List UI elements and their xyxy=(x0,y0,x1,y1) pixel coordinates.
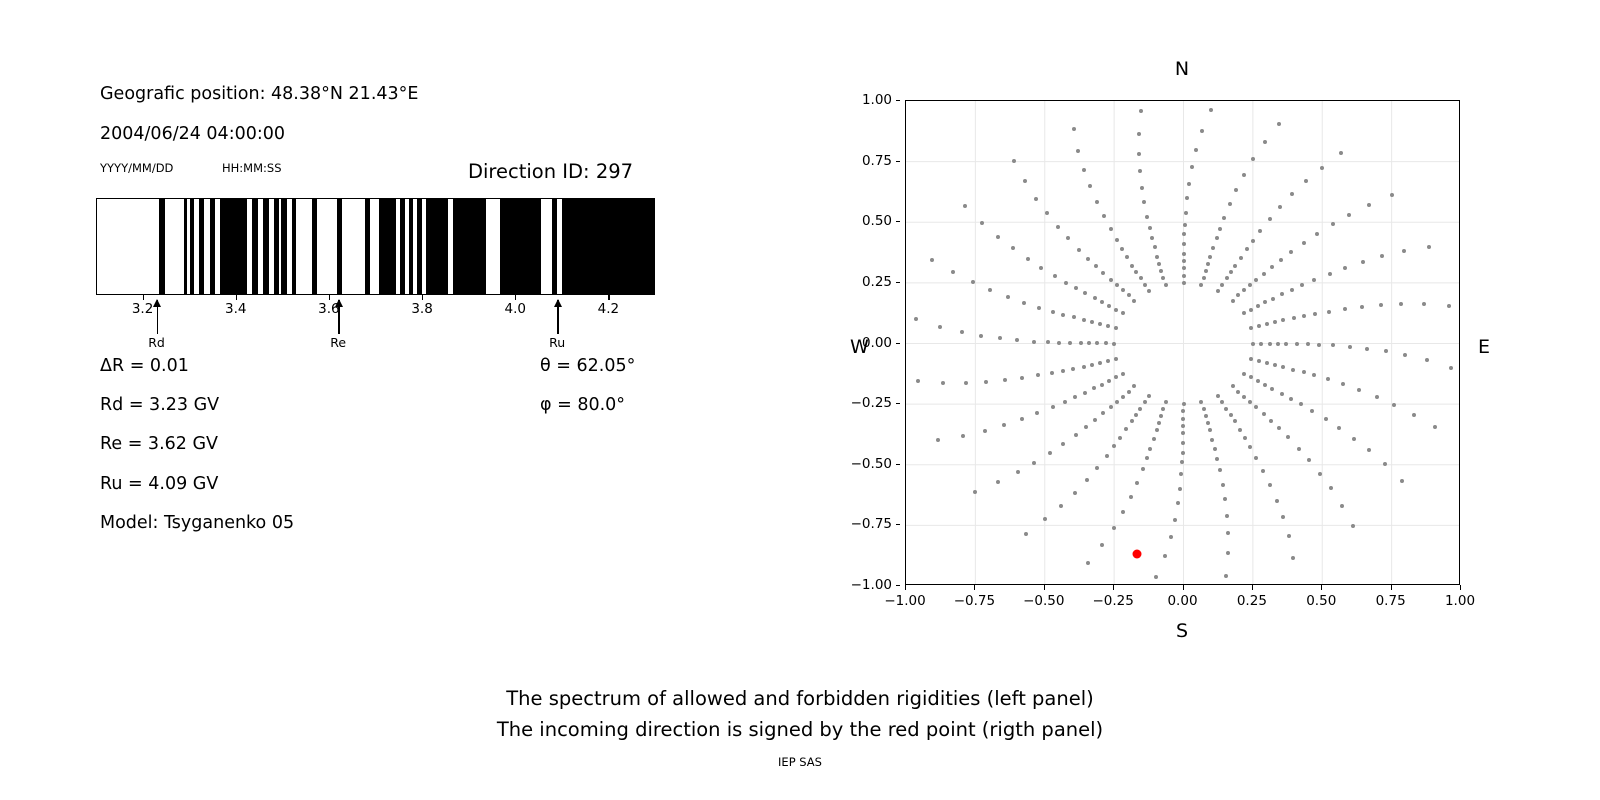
direction-dot xyxy=(1290,288,1294,292)
direction-dot xyxy=(1121,395,1125,399)
direction-dot xyxy=(1307,458,1311,462)
direction-dot xyxy=(1379,303,1383,307)
direction-dot xyxy=(1016,470,1020,474)
direction-dot xyxy=(1275,499,1279,503)
direction-dot xyxy=(1225,514,1229,518)
arrow-up-icon xyxy=(153,299,161,307)
direction-dot xyxy=(1181,451,1185,455)
direction-dot xyxy=(1190,165,1194,169)
direction-dot xyxy=(1327,310,1331,314)
direction-dot xyxy=(998,336,1002,340)
direction-dot xyxy=(1153,245,1157,249)
direction-dot xyxy=(1233,419,1237,423)
angle-row-1: φ = 80.0° xyxy=(540,395,625,415)
direction-dot xyxy=(1242,288,1246,292)
direction-dot xyxy=(1138,169,1142,173)
direction-dot xyxy=(1147,394,1151,398)
direction-dot xyxy=(1261,469,1265,473)
direction-dot xyxy=(1225,276,1229,280)
direction-dot xyxy=(1254,405,1258,409)
direction-dot xyxy=(1199,283,1203,287)
direction-dot xyxy=(984,380,988,384)
direction-dot xyxy=(1383,462,1387,466)
direction-dot xyxy=(1182,266,1186,270)
direction-dot xyxy=(1273,320,1277,324)
direction-dot xyxy=(1082,365,1086,369)
direction-dot xyxy=(1233,264,1237,268)
direction-dot xyxy=(1226,531,1230,535)
direction-dot xyxy=(1115,238,1119,242)
direction-dot xyxy=(1101,411,1105,415)
polar-y-tick-label: −1.00 xyxy=(851,577,892,593)
direction-dot xyxy=(1182,402,1186,406)
caption-line-1: The spectrum of allowed and forbidden ri… xyxy=(0,687,1600,710)
direction-dot xyxy=(1341,382,1345,386)
direction-dot xyxy=(983,429,987,433)
direction-dot xyxy=(1258,229,1262,233)
direction-dot xyxy=(1270,387,1274,391)
direction-dot xyxy=(1317,343,1321,347)
direction-dot xyxy=(1365,347,1369,351)
direction-dot xyxy=(1400,479,1404,483)
direction-dot xyxy=(1224,407,1228,411)
direction-dot xyxy=(1339,151,1343,155)
direction-dot xyxy=(1118,436,1122,440)
polar-y-tick xyxy=(896,343,901,344)
direction-dot xyxy=(1148,226,1152,230)
direction-dot xyxy=(1425,358,1429,362)
direction-dot xyxy=(1039,266,1043,270)
direction-dot xyxy=(1287,534,1291,538)
direction-dot xyxy=(1181,417,1185,421)
direction-dot xyxy=(1331,343,1335,347)
direction-dot xyxy=(1343,266,1347,270)
cutoff-marker-label: Re xyxy=(330,335,346,350)
footer-credit: IEP SAS xyxy=(0,755,1600,769)
direction-dot xyxy=(1026,257,1030,261)
direction-dot xyxy=(1178,487,1182,491)
direction-dot xyxy=(1032,461,1036,465)
plot-gridlines xyxy=(906,101,1460,585)
direction-dot xyxy=(1037,306,1041,310)
direction-dot xyxy=(1072,315,1076,319)
direction-dot xyxy=(1276,342,1280,346)
direction-dot xyxy=(1367,448,1371,452)
direction-dot xyxy=(1083,291,1087,295)
direction-dot xyxy=(980,221,984,225)
direction-dot xyxy=(1337,426,1341,430)
direction-dot xyxy=(1155,428,1159,432)
angle-row-0: θ = 62.05° xyxy=(540,356,635,376)
direction-dot xyxy=(1020,376,1024,380)
direction-dot xyxy=(1061,313,1065,317)
direction-dot xyxy=(1331,222,1335,226)
polar-x-tick xyxy=(974,585,975,590)
polar-y-tick xyxy=(896,585,901,586)
direction-dot xyxy=(1297,447,1301,451)
direction-dot xyxy=(1057,341,1061,345)
direction-dot xyxy=(1313,312,1317,316)
direction-dot xyxy=(1145,215,1149,219)
polar-x-tick-label: 0.00 xyxy=(1167,593,1197,609)
direction-dot xyxy=(1306,342,1310,346)
direction-dot xyxy=(1059,504,1063,508)
direction-dot xyxy=(1211,246,1215,250)
direction-dot xyxy=(1392,403,1396,407)
direction-dot xyxy=(1204,269,1208,273)
direction-dot xyxy=(973,490,977,494)
direction-dot xyxy=(1142,200,1146,204)
direction-dot xyxy=(1159,269,1163,273)
direction-dot xyxy=(1216,394,1220,398)
direction-dot xyxy=(1239,256,1243,260)
direction-dot xyxy=(1256,304,1260,308)
direction-dot xyxy=(1127,293,1131,297)
direction-dot xyxy=(1375,395,1379,399)
direction-dot xyxy=(1273,363,1277,367)
direction-dot xyxy=(1093,418,1097,422)
direction-dot xyxy=(1220,400,1224,404)
direction-dot xyxy=(1194,148,1198,152)
direction-dot xyxy=(960,330,964,334)
direction-dot xyxy=(1236,390,1240,394)
direction-dot xyxy=(1242,372,1246,376)
direction-dot xyxy=(1115,400,1119,404)
direction-dot xyxy=(1278,205,1282,209)
direction-dot xyxy=(1181,431,1185,435)
direction-dot xyxy=(1328,272,1332,276)
polar-x-tick xyxy=(1183,585,1184,590)
polar-y-tick-label: −0.25 xyxy=(851,395,892,411)
direction-dot xyxy=(1204,414,1208,418)
direction-dot xyxy=(1384,349,1388,353)
direction-dot xyxy=(1251,342,1255,346)
direction-dot xyxy=(1109,227,1113,231)
direction-dot xyxy=(1012,159,1016,163)
direction-dot xyxy=(1105,454,1109,458)
direction-dot xyxy=(1154,575,1158,579)
direction-dot xyxy=(1291,368,1295,372)
direction-dot xyxy=(1127,390,1131,394)
direction-dot xyxy=(1206,262,1210,266)
direction-dot xyxy=(1259,342,1263,346)
direction-dot xyxy=(1318,472,1322,476)
direction-dot xyxy=(1100,543,1104,547)
direction-dot xyxy=(916,379,920,383)
polar-y-tick-label: 0.75 xyxy=(862,153,892,169)
direction-dot xyxy=(1095,466,1099,470)
direction-dot xyxy=(1280,392,1284,396)
parameter-row-3: Ru = 4.09 GV xyxy=(100,474,218,494)
direction-dot xyxy=(1035,411,1039,415)
polar-y-tick-label: −0.50 xyxy=(851,456,892,472)
direction-dot xyxy=(1231,299,1235,303)
direction-dot xyxy=(1234,188,1238,192)
polar-y-tick xyxy=(896,221,901,222)
direction-dot xyxy=(1182,242,1186,246)
direction-dot xyxy=(1312,373,1316,377)
compass-label-south: S xyxy=(1176,620,1188,642)
direction-dot xyxy=(1061,442,1065,446)
direction-dot xyxy=(1352,437,1356,441)
direction-dot xyxy=(1137,132,1141,136)
direction-dot xyxy=(1006,295,1010,299)
direction-dot xyxy=(1184,211,1188,215)
polar-y-tick-label: 0.25 xyxy=(862,274,892,290)
polar-x-tick xyxy=(1460,585,1461,590)
direction-dot xyxy=(1053,274,1057,278)
polar-x-tick xyxy=(1044,585,1045,590)
direction-dot xyxy=(1102,214,1106,218)
polar-x-axis: −1.00−0.75−0.50−0.250.000.250.500.751.00 xyxy=(905,585,1460,615)
direction-dot xyxy=(1139,109,1143,113)
direction-dot xyxy=(1107,304,1111,308)
compass-label-north: N xyxy=(1175,58,1189,80)
direction-dot xyxy=(1181,424,1185,428)
direction-dot xyxy=(1218,227,1222,231)
polar-x-tick xyxy=(1321,585,1322,590)
direction-dot xyxy=(1245,247,1249,251)
direction-dot xyxy=(1281,318,1285,322)
direction-dot xyxy=(938,325,942,329)
direction-dot xyxy=(1112,342,1116,346)
direction-dot xyxy=(1095,341,1099,345)
direction-dot xyxy=(1249,375,1253,379)
direction-dot xyxy=(1164,400,1168,404)
direction-dot xyxy=(1216,289,1220,293)
direction-dot xyxy=(1249,326,1253,330)
direction-dot xyxy=(1399,302,1403,306)
direction-dot xyxy=(1048,451,1052,455)
direction-dot xyxy=(1281,515,1285,519)
polar-y-tick xyxy=(896,464,901,465)
polar-x-tick xyxy=(905,585,906,590)
direction-dot xyxy=(1202,276,1206,280)
direction-dot xyxy=(1104,341,1108,345)
direction-dot xyxy=(1380,254,1384,258)
direction-dot xyxy=(1262,412,1266,416)
direction-dot xyxy=(1023,179,1027,183)
polar-y-tick-label: −0.75 xyxy=(851,516,892,532)
direction-dot xyxy=(1181,441,1185,445)
direction-dot xyxy=(1447,304,1451,308)
arrow-up-icon xyxy=(335,299,343,307)
direction-dot xyxy=(1115,283,1119,287)
direction-dot xyxy=(1176,501,1180,505)
direction-dot xyxy=(1129,495,1133,499)
direction-dot xyxy=(1137,152,1141,156)
direction-dot xyxy=(1215,457,1219,461)
polar-x-tick-label: 0.25 xyxy=(1237,593,1267,609)
direction-dot xyxy=(1242,311,1246,315)
direction-dot xyxy=(1139,276,1143,280)
direction-dot xyxy=(1248,400,1252,404)
direction-dot xyxy=(1222,216,1226,220)
direction-dot xyxy=(1265,322,1269,326)
direction-dot xyxy=(1161,407,1165,411)
direction-dot xyxy=(979,334,983,338)
direction-dot xyxy=(1292,316,1296,320)
direction-dot xyxy=(1402,249,1406,253)
direction-dot xyxy=(1360,305,1364,309)
direction-dot xyxy=(1138,407,1142,411)
direction-dot xyxy=(1289,397,1293,401)
direction-dot xyxy=(1270,265,1274,269)
direction-dot xyxy=(1148,447,1152,451)
direction-dot xyxy=(1280,292,1284,296)
direction-dot xyxy=(1347,213,1351,217)
direction-dot xyxy=(1094,264,1098,268)
direction-dot xyxy=(1088,184,1092,188)
direction-dot xyxy=(1281,365,1285,369)
direction-dot xyxy=(1145,456,1149,460)
polar-y-tick xyxy=(896,100,901,101)
direction-dot xyxy=(1208,428,1212,432)
direction-dot xyxy=(1121,372,1125,376)
direction-dot xyxy=(1076,149,1080,153)
direction-dot xyxy=(1063,400,1067,404)
direction-dot xyxy=(1312,278,1316,282)
direction-dot xyxy=(1071,367,1075,371)
polar-x-tick-label: −0.50 xyxy=(1023,593,1064,609)
direction-dot xyxy=(1046,340,1050,344)
direction-dot xyxy=(1422,302,1426,306)
direction-dot xyxy=(1215,236,1219,240)
direction-dot xyxy=(1271,297,1275,301)
direction-dot xyxy=(1121,311,1125,315)
direction-dot xyxy=(1114,375,1118,379)
direction-dot xyxy=(1320,166,1324,170)
direction-dot xyxy=(1254,456,1258,460)
polar-y-tick xyxy=(896,403,901,404)
direction-dot xyxy=(1173,518,1177,522)
direction-dot xyxy=(1143,283,1147,287)
direction-dot xyxy=(1045,211,1049,215)
direction-dot xyxy=(996,235,1000,239)
direction-dot xyxy=(1020,417,1024,421)
direction-dot xyxy=(1180,460,1184,464)
direction-dot xyxy=(1213,447,1217,451)
direction-dot xyxy=(1072,127,1076,131)
polar-x-tick-label: 0.75 xyxy=(1376,593,1406,609)
direction-dot xyxy=(1263,383,1267,387)
direction-dot xyxy=(1077,248,1081,252)
direction-dot xyxy=(1051,405,1055,409)
direction-dot xyxy=(1265,361,1269,365)
direction-dot xyxy=(1120,247,1124,251)
direction-dot xyxy=(1279,258,1283,262)
caption-line-2: The incoming direction is signed by the … xyxy=(0,718,1600,741)
direction-dot xyxy=(1043,517,1047,521)
direction-dot xyxy=(1134,270,1138,274)
direction-dot xyxy=(1098,322,1102,326)
direction-dot xyxy=(1256,379,1260,383)
direction-dot xyxy=(1289,250,1293,254)
parameter-row-2: Re = 3.62 GV xyxy=(100,434,218,454)
direction-dot xyxy=(1269,419,1273,423)
direction-dot xyxy=(1302,241,1306,245)
direction-dot xyxy=(1100,383,1104,387)
direction-dot xyxy=(1068,341,1072,345)
direction-dot xyxy=(1286,435,1290,439)
direction-dot xyxy=(1086,257,1090,261)
direction-dot xyxy=(1112,526,1116,530)
direction-dot xyxy=(1251,157,1255,161)
direction-dot xyxy=(1032,340,1036,344)
direction-dot xyxy=(1164,283,1168,287)
polar-y-tick-label: 1.00 xyxy=(862,92,892,108)
direction-dot xyxy=(1304,179,1308,183)
direction-dot xyxy=(1163,554,1167,558)
direction-dot xyxy=(1064,281,1068,285)
polar-y-tick-label: 0.50 xyxy=(862,213,892,229)
direction-dot xyxy=(1257,324,1261,328)
asymptotic-direction-plot xyxy=(905,100,1460,585)
direction-dot xyxy=(1182,252,1186,256)
incoming-direction-marker xyxy=(1133,549,1142,558)
polar-x-tick-label: 1.00 xyxy=(1445,593,1475,609)
cutoff-marker-label: Rd xyxy=(148,335,165,350)
direction-dot xyxy=(1326,377,1330,381)
direction-dot xyxy=(964,381,968,385)
direction-dot xyxy=(1403,353,1407,357)
direction-dot xyxy=(1324,417,1328,421)
direction-dot xyxy=(1087,341,1091,345)
direction-dot xyxy=(1022,301,1026,305)
direction-dot xyxy=(1157,421,1161,425)
direction-dot xyxy=(1100,300,1104,304)
direction-dot xyxy=(1249,357,1253,361)
direction-dot xyxy=(1092,386,1096,390)
direction-dot xyxy=(1427,245,1431,249)
direction-dot xyxy=(1263,300,1267,304)
direction-dot xyxy=(1357,388,1361,392)
direction-dot xyxy=(1132,299,1136,303)
direction-dot xyxy=(1090,363,1094,367)
direction-dot xyxy=(1141,467,1145,471)
direction-dot xyxy=(1249,308,1253,312)
direction-dot xyxy=(1134,413,1138,417)
direction-dot xyxy=(1143,400,1147,404)
polar-y-tick xyxy=(896,524,901,525)
direction-dot xyxy=(1109,405,1113,409)
direction-dot xyxy=(1159,414,1163,418)
direction-dot xyxy=(1114,357,1118,361)
direction-dot xyxy=(1161,276,1165,280)
direction-dot xyxy=(1449,366,1453,370)
polar-x-tick xyxy=(1391,585,1392,590)
direction-dot xyxy=(1262,272,1266,276)
polar-y-tick xyxy=(896,282,901,283)
polar-y-tick xyxy=(896,161,901,162)
direction-dot xyxy=(1223,497,1227,501)
rigidity-cutoff-markers: RdReRu xyxy=(96,300,655,360)
direction-dot xyxy=(1169,535,1173,539)
direction-dot xyxy=(1268,342,1272,346)
direction-dot xyxy=(1199,400,1203,404)
direction-dot xyxy=(1310,409,1314,413)
direction-dot xyxy=(961,434,965,438)
direction-dot xyxy=(1114,326,1118,330)
direction-dot xyxy=(1302,370,1306,374)
polar-y-axis: −1.00−0.75−0.50−0.250.000.250.500.751.00 xyxy=(830,100,900,585)
direction-dot xyxy=(1066,236,1070,240)
direction-dot xyxy=(1182,274,1186,278)
parameter-list-right: θ = 62.05°φ = 80.0° xyxy=(0,0,760,300)
direction-dot xyxy=(1121,288,1125,292)
direction-dot xyxy=(1130,419,1134,423)
arrow-up-icon xyxy=(554,299,562,307)
